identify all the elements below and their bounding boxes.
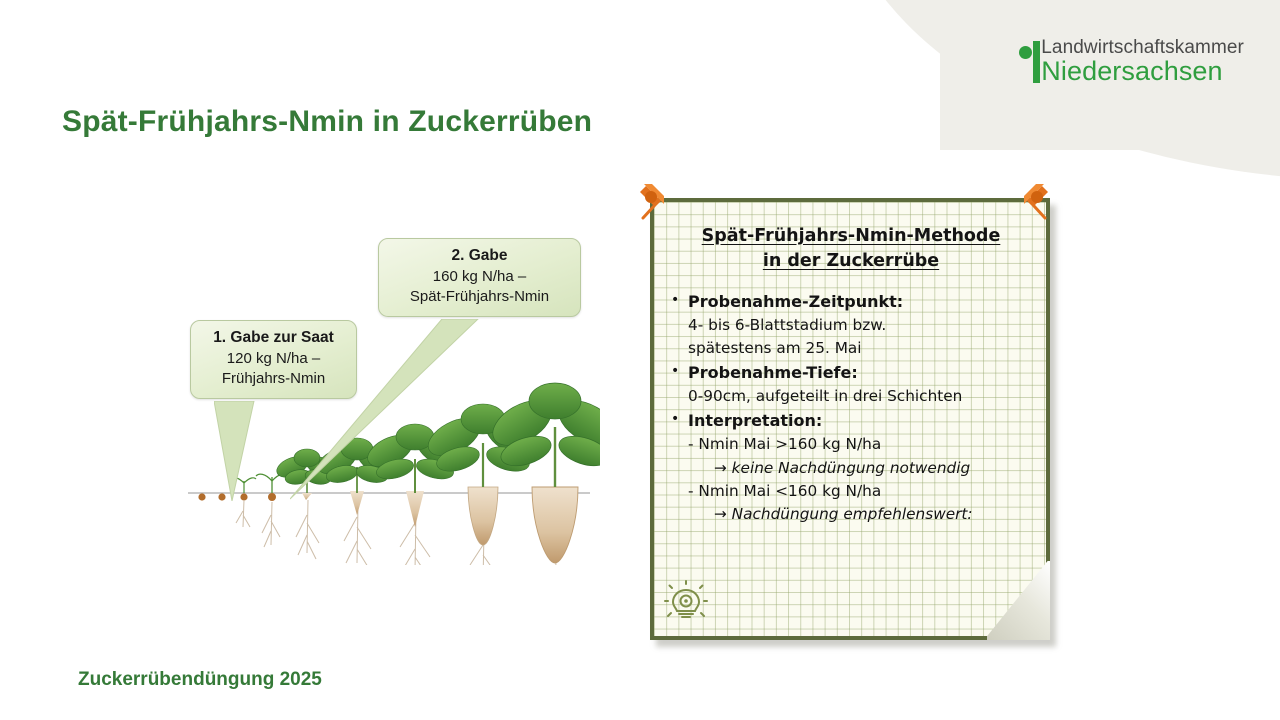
pushpin-left-icon [634, 180, 680, 226]
note-interpretation-case-2: - Nmin Mai <160 kg N/ha [668, 480, 1034, 503]
callout-2-heading: 2. Gabe [387, 246, 572, 267]
note-heading-line-2: in der Zuckerrübe [668, 249, 1034, 274]
callout-1-line-1: 120 kg N/ha – [197, 349, 350, 369]
note-item-timing-line-2: spätestens am 25. Mai [668, 337, 1034, 360]
note-item-timing: • Probenahme-Zeitpunkt: [668, 290, 1034, 314]
page-title: Spät-Frühjahrs-Nmin in Zuckerrüben [62, 105, 592, 139]
bullet-icon: • [668, 361, 688, 382]
callout-1-line-2: Frühjahrs-Nmin [197, 369, 350, 389]
note-interpretation-result-1: → keine Nachdüngung notwendig [668, 457, 1034, 480]
lightbulb-gear-icon [664, 580, 708, 624]
organization-logo: Landwirtschaftskammer Niedersachsen [1019, 38, 1244, 85]
pushpin-right-icon [1008, 180, 1054, 226]
logo-mark-icon [1019, 38, 1039, 84]
callout-1-heading: 1. Gabe zur Saat [197, 328, 350, 349]
callout-2-line-2: Spät-Frühjahrs-Nmin [387, 287, 572, 307]
callout-second-application: 2. Gabe 160 kg N/ha – Spät-Frühjahrs-Nmi… [378, 238, 581, 317]
note-item-interpretation-head: Interpretation: [688, 409, 822, 433]
callout-1-tail-icon [214, 401, 274, 501]
note-item-depth: • Probenahme-Tiefe: [668, 361, 1034, 385]
note-heading: Spät-Frühjahrs-Nmin-Methode in der Zucke… [668, 224, 1034, 274]
note-item-timing-line-1: 4- bis 6-Blattstadium bzw. [668, 314, 1034, 337]
slide-footer: Zuckerrübendüngung 2025 [78, 669, 322, 691]
bullet-icon: • [668, 409, 688, 430]
callout-first-application: 1. Gabe zur Saat 120 kg N/ha – Frühjahrs… [190, 320, 357, 399]
note-item-depth-head: Probenahme-Tiefe: [688, 361, 858, 385]
logo-line-1: Landwirtschaftskammer [1041, 38, 1244, 57]
note-item-interpretation: • Interpretation: [668, 409, 1034, 433]
note-bullet-list: • Probenahme-Zeitpunkt: 4- bis 6-Blattst… [668, 290, 1034, 527]
callout-2-line-1: 160 kg N/ha – [387, 267, 572, 287]
sugar-beet-growth-illustration: 1. Gabe zur Saat 120 kg N/ha – Frühjahrs… [180, 215, 600, 565]
method-note-card: Spät-Frühjahrs-Nmin-Methode in der Zucke… [650, 198, 1050, 640]
note-item-depth-line-1: 0-90cm, aufgeteilt in drei Schichten [668, 385, 1034, 408]
bullet-icon: • [668, 290, 688, 311]
note-item-timing-head: Probenahme-Zeitpunkt: [688, 290, 903, 314]
note-interpretation-case-1: - Nmin Mai >160 kg N/ha [668, 433, 1034, 456]
note-heading-line-1: Spät-Frühjahrs-Nmin-Methode [668, 224, 1034, 249]
logo-line-2: Niedersachsen [1041, 58, 1244, 85]
note-interpretation-result-2: → Nachdüngung empfehlenswert: [668, 503, 1034, 526]
note-content: Spät-Frühjahrs-Nmin-Methode in der Zucke… [650, 198, 1050, 640]
slide: Landwirtschaftskammer Niedersachsen Spät… [0, 0, 1280, 720]
